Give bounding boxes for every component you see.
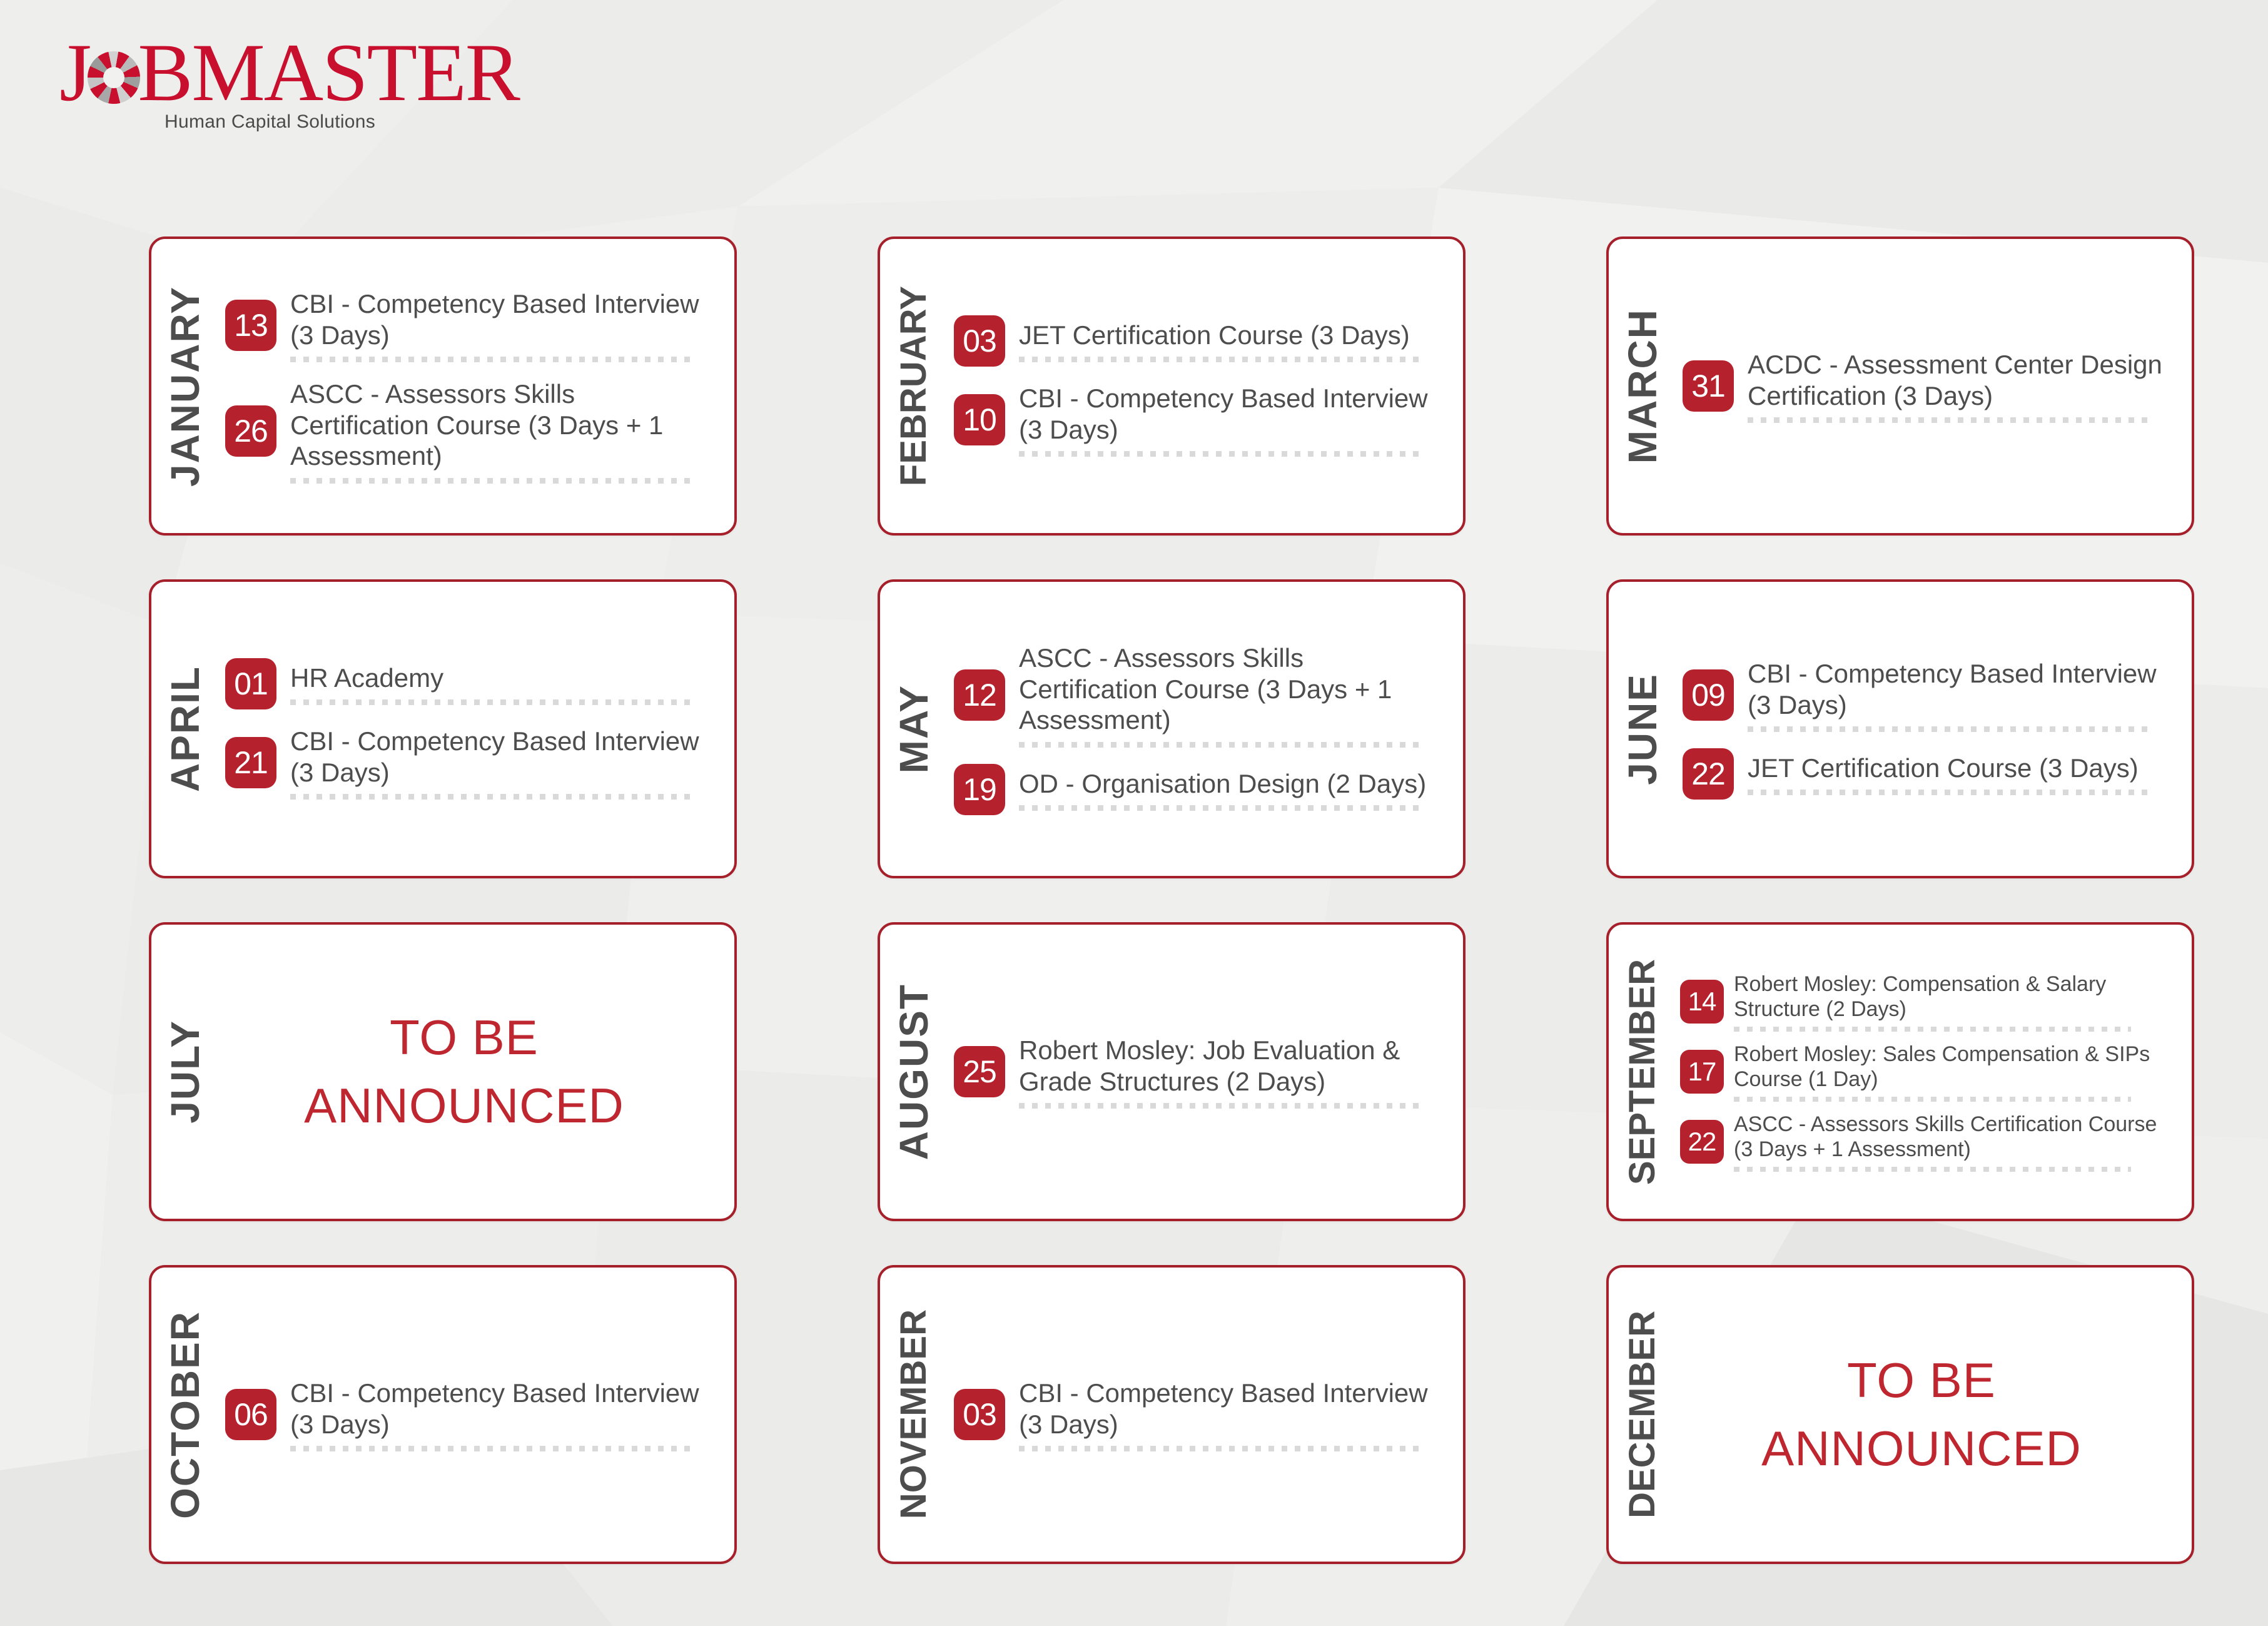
month-card-april[interactable]: APRIL01HR Academy21CBI - Competency Base… [149,579,737,878]
month-label-column: JANUARY [151,239,219,533]
event-dotted-separator [1748,726,2147,732]
month-name: FEBRUARY [896,286,932,486]
month-label-column: DECEMBER [1609,1268,1676,1562]
month-card-june[interactable]: JUNE09CBI - Competency Based Interview (… [1606,579,2194,878]
event-row[interactable]: 31ACDC - Assessment Center Design Certif… [1683,349,2173,423]
event-title: CBI - Competency Based Interview (3 Days… [290,726,716,788]
event-body: CBI - Competency Based Interview (3 Days… [290,726,716,800]
event-row[interactable]: 26ASCC - Assessors Skills Certification … [225,379,716,484]
month-name: NOVEMBER [896,1309,932,1519]
event-day-badge: 31 [1683,360,1734,412]
event-dotted-separator [290,478,690,484]
event-body: OD - Organisation Design (2 Days) [1019,768,1444,811]
event-body: Robert Mosley: Sales Compensation & SIPs… [1734,1042,2175,1102]
event-row[interactable]: 22ASCC - Assessors Skills Certification … [1680,1112,2175,1172]
event-body: CBI - Competency Based Interview (3 Days… [1748,658,2173,732]
event-title: Robert Mosley: Compensation & Salary Str… [1734,972,2175,1022]
event-dotted-separator [290,794,690,800]
event-title: JET Certification Course (3 Days) [1748,753,2173,784]
event-row[interactable]: 13CBI - Competency Based Interview (3 Da… [225,288,716,362]
event-title: Robert Mosley: Job Evaluation & Grade St… [1019,1035,1444,1097]
event-title: CBI - Competency Based Interview (3 Days… [290,1378,716,1440]
event-dotted-separator [290,1446,690,1451]
event-title: CBI - Competency Based Interview (3 Days… [1748,658,2173,720]
event-row[interactable]: 01HR Academy [225,658,716,709]
month-label-column: OCTOBER [151,1268,219,1562]
event-body: JET Certification Course (3 Days) [1019,320,1444,363]
event-dotted-separator [1019,1103,1419,1109]
event-title: CBI - Competency Based Interview (3 Days… [290,288,716,350]
to-be-announced-notice: TO BEANNOUNCED [219,925,734,1219]
event-body: CBI - Competency Based Interview (3 Days… [290,1378,716,1451]
event-row[interactable]: 25Robert Mosley: Job Evaluation & Grade … [954,1035,1444,1109]
tba-line-1: TO BE [1847,1346,1996,1415]
events-list: 03CBI - Competency Based Interview (3 Da… [948,1268,1463,1562]
event-dotted-separator [1019,1446,1419,1451]
month-card-march[interactable]: MARCH31ACDC - Assessment Center Design C… [1606,236,2194,536]
event-day-badge: 17 [1680,1050,1724,1094]
month-label-column: MAY [880,582,948,876]
month-name: SEPTEMBER [1624,959,1661,1185]
event-day-badge: 22 [1683,748,1734,800]
event-day-badge: 10 [954,394,1005,445]
month-card-august[interactable]: AUGUST25Robert Mosley: Job Evaluation & … [878,922,1466,1221]
event-dotted-separator [1019,805,1419,811]
event-title: ASCC - Assessors Skills Certification Co… [1019,643,1444,736]
event-row[interactable]: 14Robert Mosley: Compensation & Salary S… [1680,972,2175,1032]
event-day-badge: 14 [1680,980,1724,1024]
month-label-column: JULY [151,925,219,1219]
month-card-november[interactable]: NOVEMBER03CBI - Competency Based Intervi… [878,1265,1466,1564]
month-label-column: SEPTEMBER [1609,925,1676,1219]
month-card-october[interactable]: OCTOBER06CBI - Competency Based Intervie… [149,1265,737,1564]
event-dotted-separator [1748,417,2147,423]
to-be-announced-notice: TO BEANNOUNCED [1676,1268,2192,1562]
tba-line-1: TO BE [390,1004,539,1072]
events-list: 25Robert Mosley: Job Evaluation & Grade … [948,925,1463,1219]
event-row[interactable]: 19OD - Organisation Design (2 Days) [954,764,1444,815]
event-title: OD - Organisation Design (2 Days) [1019,768,1444,800]
event-dotted-separator [1734,1097,2131,1102]
event-day-badge: 12 [954,669,1005,721]
event-body: ASCC - Assessors Skills Certification Co… [1019,643,1444,748]
event-title: JET Certification Course (3 Days) [1019,320,1444,351]
event-day-badge: 25 [954,1046,1005,1097]
event-row[interactable]: 21CBI - Competency Based Interview (3 Da… [225,726,716,800]
logo-letter-j: J [59,31,90,114]
event-row[interactable]: 12ASCC - Assessors Skills Certification … [954,643,1444,748]
logo-globe-icon [88,51,140,104]
event-row[interactable]: 22JET Certification Course (3 Days) [1683,748,2173,800]
event-body: ACDC - Assessment Center Design Certific… [1748,349,2173,423]
events-list: 01HR Academy21CBI - Competency Based Int… [219,582,734,876]
event-day-badge: 09 [1683,669,1734,721]
month-label-column: APRIL [151,582,219,876]
logo-wordmark: JBMASTER [59,31,519,114]
month-name: OCTOBER [165,1311,205,1519]
event-day-badge: 26 [225,405,276,457]
events-list: 03JET Certification Course (3 Days)10CBI… [948,239,1463,533]
event-row[interactable]: 09CBI - Competency Based Interview (3 Da… [1683,658,2173,732]
event-row[interactable]: 03CBI - Competency Based Interview (3 Da… [954,1378,1444,1451]
event-title: ASCC - Assessors Skills Certification Co… [1734,1112,2175,1162]
month-label-column: MARCH [1609,239,1676,533]
event-day-badge: 21 [225,737,276,788]
event-dotted-separator [290,699,690,705]
event-body: ASCC - Assessors Skills Certification Co… [290,379,716,484]
month-name: JULY [165,1020,205,1124]
logo: JBMASTER Human Capital Solutions [59,31,519,131]
events-list: 06CBI - Competency Based Interview (3 Da… [219,1268,734,1562]
tba-line-2: ANNOUNCED [1761,1415,2082,1483]
logo-wordmark-rest: BMASTER [138,31,519,114]
event-title: ASCC - Assessors Skills Certification Co… [290,379,716,472]
event-day-badge: 13 [225,300,276,351]
event-row[interactable]: 17Robert Mosley: Sales Compensation & SI… [1680,1042,2175,1102]
month-name: DECEMBER [1624,1311,1661,1518]
event-title: ACDC - Assessment Center Design Certific… [1748,349,2173,411]
event-body: CBI - Competency Based Interview (3 Days… [1019,383,1444,457]
event-body: Robert Mosley: Job Evaluation & Grade St… [1019,1035,1444,1109]
month-label-column: NOVEMBER [880,1268,948,1562]
event-title: HR Academy [290,663,716,694]
event-body: Robert Mosley: Compensation & Salary Str… [1734,972,2175,1032]
event-day-badge: 03 [954,315,1005,367]
event-dotted-separator [1734,1027,2131,1032]
calendar-grid: JANUARY13CBI - Competency Based Intervie… [149,236,2182,1564]
event-day-badge: 03 [954,1389,1005,1440]
event-dotted-separator [290,357,690,362]
event-day-badge: 01 [225,658,276,709]
event-body: CBI - Competency Based Interview (3 Days… [1019,1378,1444,1451]
month-label-column: AUGUST [880,925,948,1219]
event-body: ASCC - Assessors Skills Certification Co… [1734,1112,2175,1172]
month-name: MAY [894,684,934,773]
logo-tagline: Human Capital Solutions [165,111,375,133]
event-day-badge: 06 [225,1389,276,1440]
event-row[interactable]: 06CBI - Competency Based Interview (3 Da… [225,1378,716,1451]
events-list: 13CBI - Competency Based Interview (3 Da… [219,239,734,533]
event-dotted-separator [1019,742,1419,748]
event-body: JET Certification Course (3 Days) [1748,753,2173,796]
month-card-may[interactable]: MAY12ASCC - Assessors Skills Certificati… [878,579,1466,878]
events-list: 12ASCC - Assessors Skills Certification … [948,582,1463,876]
month-label-column: JUNE [1609,582,1676,876]
month-name: MARCH [1623,308,1663,464]
event-row[interactable]: 03JET Certification Course (3 Days) [954,315,1444,367]
event-day-badge: 22 [1680,1120,1724,1164]
event-dotted-separator [1748,790,2147,795]
tba-line-2: ANNOUNCED [304,1072,624,1140]
month-card-july[interactable]: JULYTO BEANNOUNCED [149,922,737,1221]
event-title: Robert Mosley: Sales Compensation & SIPs… [1734,1042,2175,1092]
month-name: AUGUST [894,983,934,1160]
event-body: HR Academy [290,663,716,706]
event-row[interactable]: 10CBI - Competency Based Interview (3 Da… [954,383,1444,457]
events-list: 09CBI - Competency Based Interview (3 Da… [1676,582,2192,876]
month-card-december[interactable]: DECEMBERTO BEANNOUNCED [1606,1265,2194,1564]
event-day-badge: 19 [954,764,1005,815]
events-list: 14Robert Mosley: Compensation & Salary S… [1676,925,2192,1219]
event-title: CBI - Competency Based Interview (3 Days… [1019,383,1444,445]
event-dotted-separator [1019,357,1419,362]
month-name: JANUARY [165,286,205,487]
month-card-january[interactable]: JANUARY13CBI - Competency Based Intervie… [149,236,737,536]
event-dotted-separator [1019,451,1419,457]
events-list: 31ACDC - Assessment Center Design Certif… [1676,239,2192,533]
month-card-september[interactable]: SEPTEMBER14Robert Mosley: Compensation &… [1606,922,2194,1221]
event-title: CBI - Competency Based Interview (3 Days… [1019,1378,1444,1440]
event-body: CBI - Competency Based Interview (3 Days… [290,288,716,362]
brand-header: JBMASTER Human Capital Solutions [59,31,519,131]
month-card-february[interactable]: FEBRUARY03JET Certification Course (3 Da… [878,236,1466,536]
month-label-column: FEBRUARY [880,239,948,533]
month-name: JUNE [1623,673,1663,785]
event-dotted-separator [1734,1167,2131,1172]
month-name: APRIL [165,666,205,792]
